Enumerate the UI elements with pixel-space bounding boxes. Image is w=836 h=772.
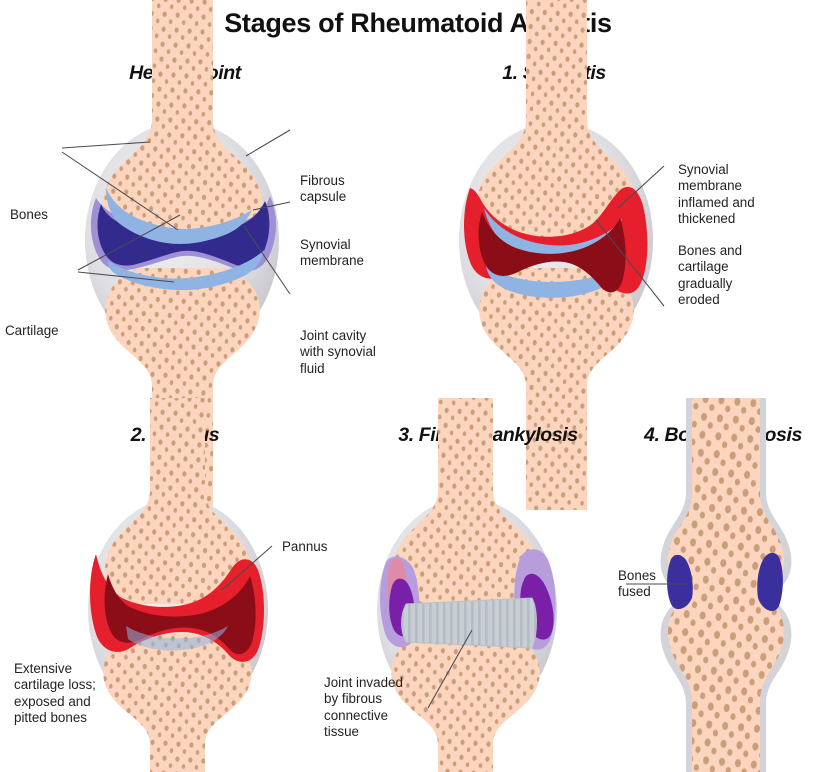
panel-healthy-joint: Healthy joint bbox=[0, 0, 430, 410]
label-extensive-cartilage-loss: Extensive cartilage loss; exposed and pi… bbox=[14, 661, 96, 727]
label-bones: Bones bbox=[10, 207, 48, 223]
panel-fibrous-ankylosis: 3. Fibrous ankylosis bbox=[310, 400, 630, 772]
label-synovial-inflamed: Synovial membrane inflamed and thickened bbox=[678, 162, 755, 228]
label-joint-invaded: Joint invaded by fibrous connective tiss… bbox=[324, 675, 403, 741]
label-bones-eroded: Bones and cartilage gradually eroded bbox=[678, 243, 742, 309]
label-joint-cavity: Joint cavity with synovial fluid bbox=[300, 328, 376, 377]
label-fibrous-capsule: Fibrous capsule bbox=[300, 173, 346, 206]
label-cartilage: Cartilage bbox=[5, 323, 59, 339]
panel-synovitis: 1. Synovitis Syn bbox=[406, 0, 836, 410]
label-bones-fused: Bones fused bbox=[618, 568, 656, 601]
fibrous-bridge-shape bbox=[402, 598, 537, 648]
panel-pannus: 2. Pannus Pannus Extensive bbox=[0, 400, 330, 772]
panel-bony-ankylosis: 4. Bony ankylosis Bones fused bbox=[600, 400, 836, 772]
label-synovial-membrane: Synovial membrane bbox=[300, 237, 364, 270]
